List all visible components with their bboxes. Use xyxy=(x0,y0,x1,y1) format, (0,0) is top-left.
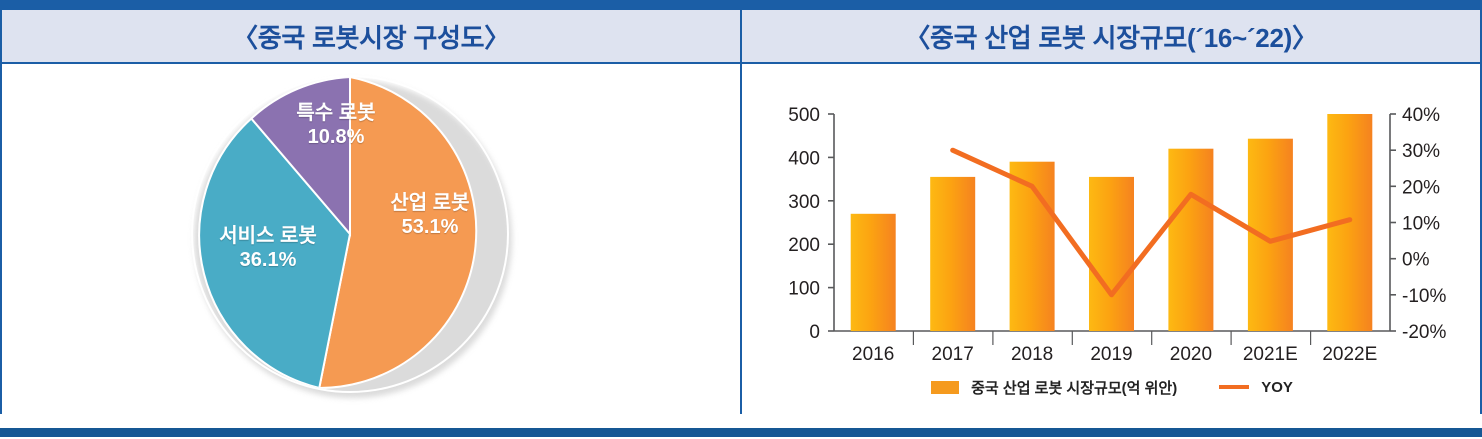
chart-legend: 중국 산업 로봇 시장규모(억 위안) YOY xyxy=(802,370,1422,404)
pie-label-industrial-name: 산업 로봇 xyxy=(360,192,500,216)
x-axis-tick-labels: 2016 2017 2018 2019 2020 2021E 2022E xyxy=(852,344,1377,365)
y2tick-20: 20% xyxy=(1402,177,1440,198)
combo-chart-panel: 500 400 300 200 100 0 40% 30% 20% xyxy=(742,64,1480,414)
xtick-2020: 2020 xyxy=(1170,344,1212,365)
pie-label-service: 서비스 로봇 36.1% xyxy=(198,225,338,272)
y2tick-40: 40% xyxy=(1402,105,1440,126)
xtick-2022E: 2022E xyxy=(1322,344,1377,365)
ytick-400: 400 xyxy=(788,148,820,169)
left-axis-tick-labels: 500 400 300 200 100 0 xyxy=(788,105,820,343)
ytick-100: 100 xyxy=(788,279,820,300)
pie-chart: 산업 로봇 53.1% 서비스 로봇 36.1% 특수 로봇 10.8% xyxy=(188,72,520,404)
line-swatch-icon xyxy=(1219,385,1249,389)
y2tick-30: 30% xyxy=(1402,141,1440,162)
left-panel-title: 〈중국 로봇시장 구성도〉 xyxy=(232,18,510,55)
xtick-2018: 2018 xyxy=(1011,344,1053,365)
ytick-0: 0 xyxy=(809,322,820,343)
pie-label-industrial: 산업 로봇 53.1% xyxy=(360,192,500,239)
legend-item-market-size: 중국 산업 로봇 시장규모(억 위안) xyxy=(931,377,1177,398)
right-axis-ticks xyxy=(1390,114,1396,331)
ytick-300: 300 xyxy=(788,192,820,213)
y2tick-10: 10% xyxy=(1402,214,1440,235)
right-axis-tick-labels: 40% 30% 20% 10% 0% -10% -20% xyxy=(1402,105,1446,343)
bar-2020 xyxy=(1168,149,1213,331)
top-accent-band xyxy=(0,0,1482,10)
pie-label-special-value: 10.8% xyxy=(276,126,396,150)
combo-chart-svg: 500 400 300 200 100 0 40% 30% 20% xyxy=(742,64,1480,374)
left-panel-header: 〈중국 로봇시장 구성도〉 xyxy=(2,10,740,62)
xtick-2019: 2019 xyxy=(1090,344,1132,365)
xtick-2021E: 2021E xyxy=(1243,344,1298,365)
bar-2019 xyxy=(1089,177,1134,331)
left-axis-ticks xyxy=(828,114,834,331)
legend-item-yoy: YOY xyxy=(1219,379,1293,396)
bar-series xyxy=(851,114,1373,331)
xtick-2017: 2017 xyxy=(932,344,974,365)
pie-chart-panel: 산업 로봇 53.1% 서비스 로봇 36.1% 특수 로봇 10.8% xyxy=(2,64,740,414)
y2tick-0: 0% xyxy=(1402,250,1430,271)
pie-label-industrial-value: 53.1% xyxy=(360,216,500,240)
bar-swatch-icon xyxy=(931,381,959,394)
bottom-accent-band xyxy=(0,428,1482,437)
pie-label-service-name: 서비스 로봇 xyxy=(198,225,338,249)
bar-2017 xyxy=(930,177,975,331)
ytick-200: 200 xyxy=(788,235,820,256)
bar-2016 xyxy=(851,214,896,331)
y2tick-neg20: -20% xyxy=(1402,322,1446,343)
infographic-page: 〈중국 로봇시장 구성도〉 〈중국 산업 로봇 시장규모(´16~´22)〉 산… xyxy=(0,0,1482,439)
y2tick-neg10: -10% xyxy=(1402,286,1446,307)
pie-label-service-value: 36.1% xyxy=(198,249,338,273)
legend-label-market-size: 중국 산업 로봇 시장규모(억 위안) xyxy=(971,377,1177,398)
xtick-2016: 2016 xyxy=(852,344,894,365)
category-separators xyxy=(913,331,1310,345)
pie-label-special-name: 특수 로봇 xyxy=(276,102,396,126)
right-panel-title: 〈중국 산업 로봇 시장규모(´16~´22)〉 xyxy=(904,18,1317,55)
legend-label-yoy: YOY xyxy=(1261,379,1293,396)
pie-label-special: 특수 로봇 10.8% xyxy=(276,102,396,149)
ytick-500: 500 xyxy=(788,105,820,126)
right-panel-header: 〈중국 산업 로봇 시장규모(´16~´22)〉 xyxy=(742,10,1480,62)
